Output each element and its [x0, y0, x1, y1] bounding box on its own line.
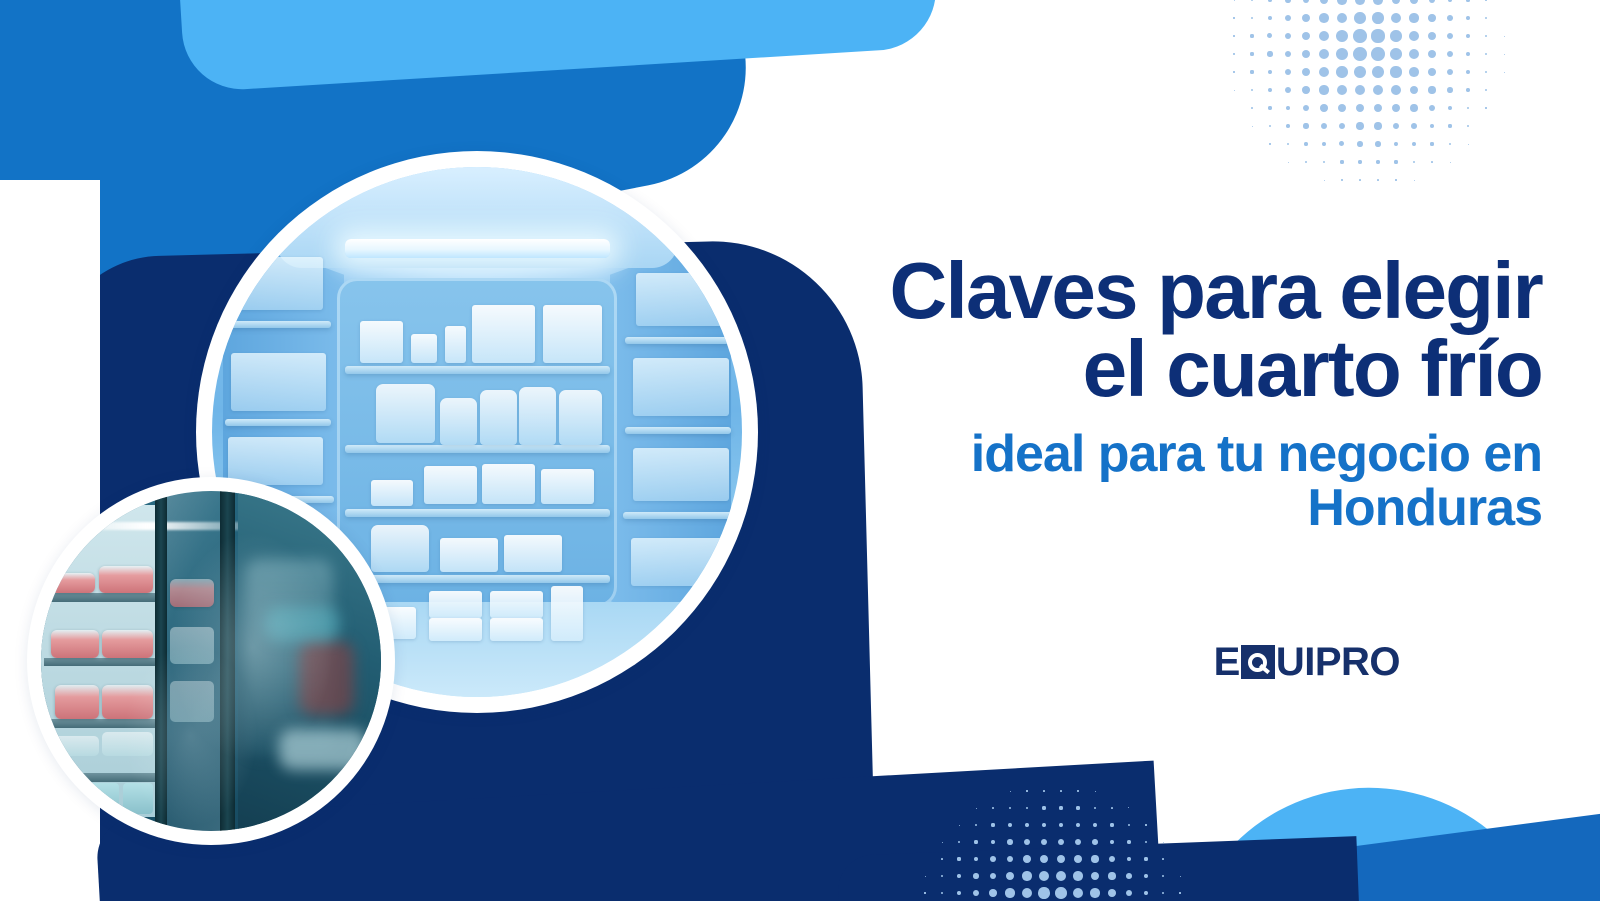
logo-text-before-q: E: [1214, 642, 1240, 682]
halftone-dots-top-right: [1216, 0, 1516, 246]
logo-q-mark: [1241, 645, 1275, 679]
copy-block: Claves para elegir el cuarto frío ideal …: [842, 252, 1542, 536]
promo-banner: Claves para elegir el cuarto frío ideal …: [0, 0, 1600, 901]
subheadline: ideal para tu negocio en Honduras: [842, 427, 1542, 536]
logo-text-after-q: UIPRO: [1276, 642, 1400, 682]
glass-freezer-photo-circle: [27, 477, 395, 845]
headline: Claves para elegir el cuarto frío: [842, 252, 1542, 409]
glass-freezer-image: [41, 491, 381, 831]
halftone-dots-bottom-center: [908, 706, 1198, 901]
logo-wordmark: E UIPRO: [1214, 642, 1400, 682]
equipro-logo: E UIPRO: [1214, 641, 1400, 683]
